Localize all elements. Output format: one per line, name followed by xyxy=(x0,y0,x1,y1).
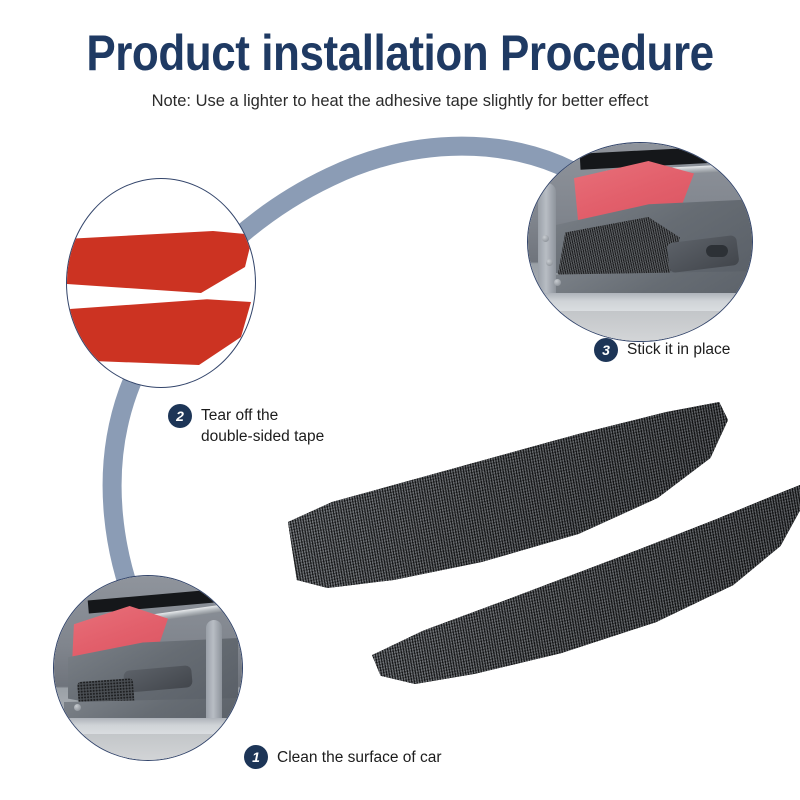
door-photo-content xyxy=(54,576,242,760)
door-bolt xyxy=(554,279,561,286)
step-3-badge: 3 xyxy=(594,338,618,362)
tape-piece-lower xyxy=(66,295,251,365)
note-text: Note: Use a lighter to heat the adhesive… xyxy=(0,92,800,111)
car-door-before-install-photo xyxy=(53,575,243,761)
step-1: 1 Clean the surface of car xyxy=(244,745,442,769)
step-1-label: Clean the surface of car xyxy=(277,745,442,768)
tape-photo-content xyxy=(67,179,255,387)
ground-surface xyxy=(54,734,243,761)
step-2: 2 Tear off the double-sided tape xyxy=(168,404,324,447)
step-3-label: Stick it in place xyxy=(627,338,730,360)
car-door-trim-installed-photo xyxy=(527,142,753,342)
door-lock-switch xyxy=(706,245,728,257)
product-installation-infographic: Product installation Procedure Note: Use… xyxy=(0,0,800,800)
step-2-badge: 2 xyxy=(168,404,192,428)
step-3: 3 Stick it in place xyxy=(594,338,730,362)
page-title: Product installation Procedure xyxy=(48,26,752,80)
door-bolt xyxy=(542,235,549,242)
step-1-badge: 1 xyxy=(244,745,268,769)
door-sill xyxy=(528,293,753,313)
door-bolt xyxy=(74,704,81,711)
tape-piece-upper xyxy=(66,231,253,293)
door-bolt xyxy=(546,259,553,266)
red-double-sided-tape-photo xyxy=(66,178,256,388)
door-photo-content xyxy=(528,143,752,341)
step-2-label: Tear off the double-sided tape xyxy=(201,404,324,447)
